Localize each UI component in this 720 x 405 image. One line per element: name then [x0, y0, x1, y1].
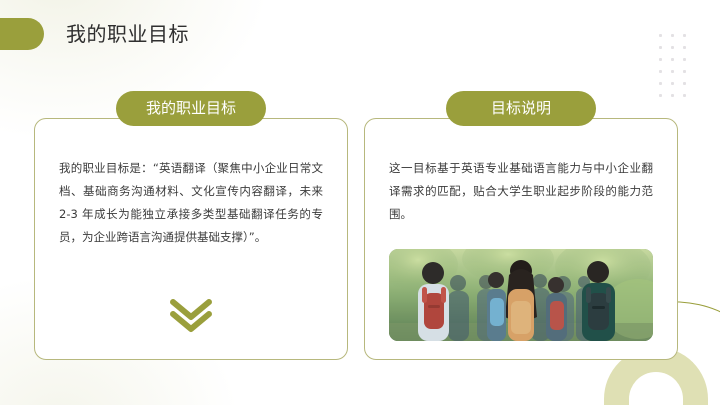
page-title: 我的职业目标	[66, 24, 189, 44]
slide-canvas: 我的职业目标 我的职业目标 我的职业目标是：“英语翻译（聚焦中小企业日常文档、基…	[0, 0, 720, 405]
students-with-backpacks-photo	[389, 249, 653, 341]
slide-header: 我的职业目标	[0, 16, 189, 52]
card-goal-explanation: 目标说明 这一目标基于英语专业基础语言能力与中小企业翻译需求的匹配，贴合大学生职…	[364, 118, 678, 360]
card-career-goal: 我的职业目标 我的职业目标是：“英语翻译（聚焦中小企业日常文档、基础商务沟通材料…	[34, 118, 348, 360]
card-header-career-goal: 我的职业目标	[116, 91, 266, 126]
dot-grid-decoration	[655, 30, 691, 102]
card-body-career-goal: 我的职业目标是：“英语翻译（聚焦中小企业日常文档、基础商务沟通材料、文化宣传内容…	[59, 157, 323, 249]
card-header-goal-explanation: 目标说明	[446, 91, 596, 126]
title-accent-pill	[0, 18, 44, 50]
double-chevron-down-icon	[35, 297, 347, 333]
cards-container: 我的职业目标 我的职业目标是：“英语翻译（聚焦中小企业日常文档、基础商务沟通材料…	[34, 118, 678, 360]
card-body-goal-explanation: 这一目标基于英语专业基础语言能力与中小企业翻译需求的匹配，贴合大学生职业起步阶段…	[389, 157, 653, 226]
